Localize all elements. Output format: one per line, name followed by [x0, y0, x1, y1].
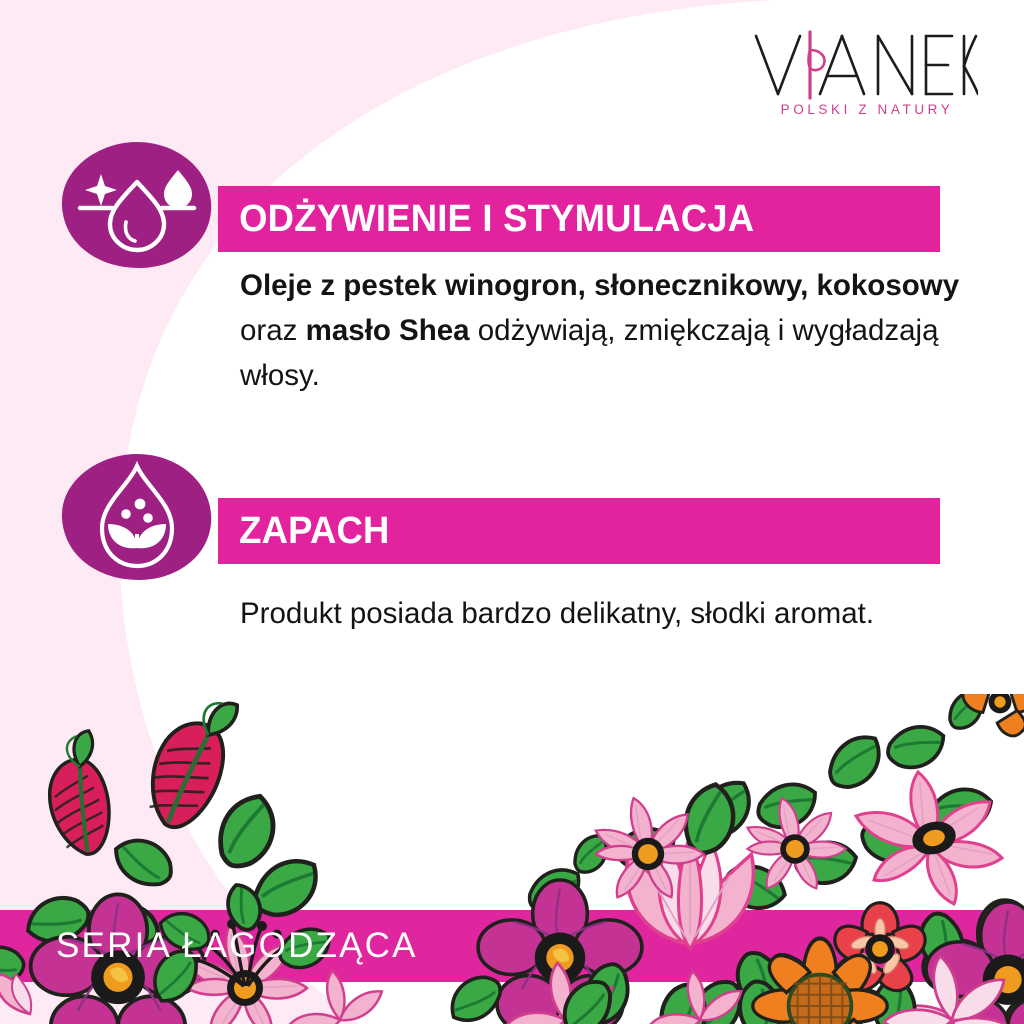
- promo-graphic: POLSKI Z NATURY ODŻYWIENIE I ST: [0, 0, 1024, 1024]
- droplet-sparkle-icon: [56, 140, 218, 270]
- logo-tagline: POLSKI Z NATURY: [752, 102, 982, 117]
- brand-logo: POLSKI Z NATURY: [752, 28, 982, 117]
- section-header: ZAPACH: [56, 452, 956, 582]
- section-heading-bar: ZAPACH: [218, 498, 940, 564]
- body-emphasis-2: masło Shea: [306, 314, 478, 347]
- section-body-text: Produkt posiada bardzo delikatny, słodki…: [240, 592, 980, 637]
- section-fragrance: ZAPACH Produkt posiada bardzo delikatny,…: [56, 452, 956, 637]
- body-plain-1: oraz: [240, 314, 306, 347]
- section-heading-text: ZAPACH: [218, 510, 390, 553]
- section-heading-text: ODŻYWIENIE I STYMULACJA: [218, 198, 754, 241]
- logo-wordmark: [752, 28, 982, 100]
- series-label: SERIA ŁAGODZĄCA: [56, 910, 418, 982]
- body-emphasis-1: Oleje z pestek winogron, słonecznikowy, …: [240, 269, 959, 302]
- body-plain-1: Produkt posiada bardzo delikatny, słodki…: [240, 597, 874, 630]
- section-header: ODŻYWIENIE I STYMULACJA: [56, 140, 956, 270]
- section-heading-bar: ODŻYWIENIE I STYMULACJA: [218, 186, 940, 252]
- section-body-text: Oleje z pestek winogron, słonecznikowy, …: [240, 264, 980, 398]
- aroma-leaf-drop-icon: [56, 452, 218, 582]
- section-nutrition: ODŻYWIENIE I STYMULACJA Oleje z pestek w…: [56, 140, 956, 398]
